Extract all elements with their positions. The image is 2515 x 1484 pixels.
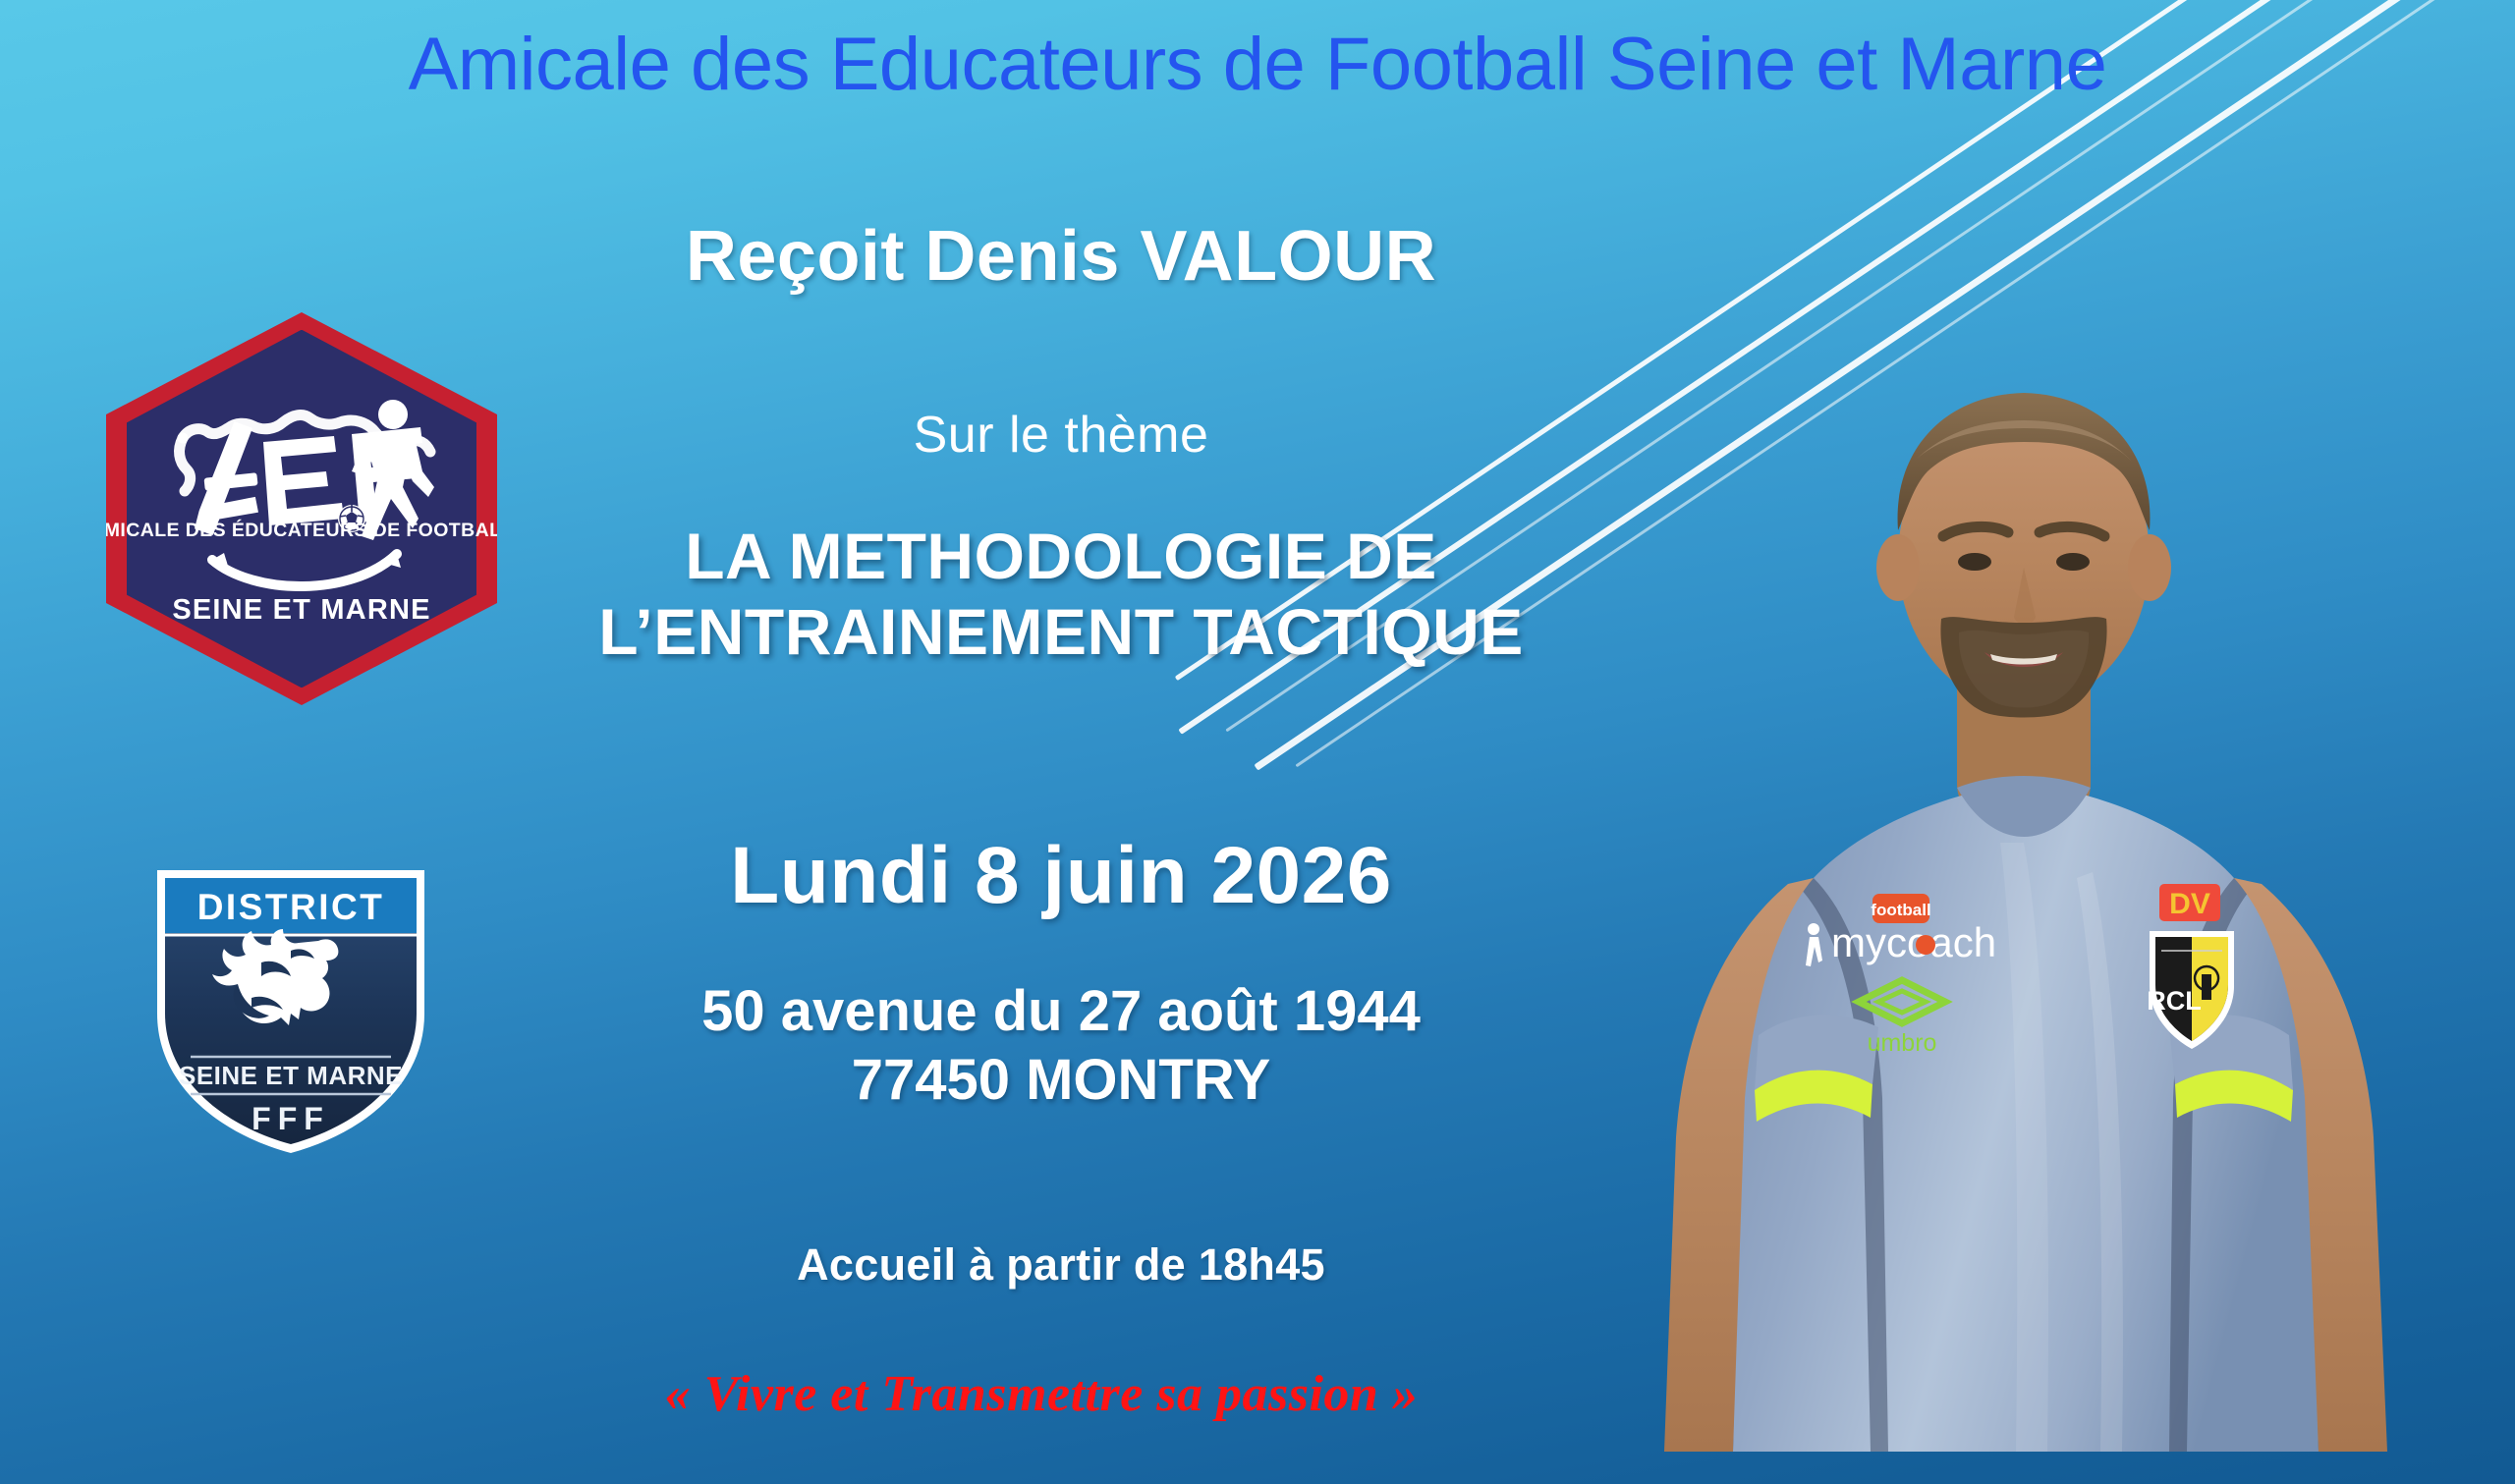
- event-poster: AMICALE DES ÉDUCATEURS DE FOOTBALL SEINE…: [0, 0, 2515, 1484]
- theme-title-line1: LA METHODOLOGIE DE: [685, 520, 1437, 592]
- theme-title: LA METHODOLOGIE DE L’ENTRAINEMENT TACTIQ…: [373, 519, 1749, 669]
- address-line2: 77450 MONTRY: [373, 1046, 1749, 1115]
- theme-title-line2: L’ENTRAINEMENT TACTIQUE: [373, 594, 1749, 670]
- shirt-brand-name: umbro: [1868, 1029, 1937, 1057]
- speaker-photo: football mycoach umbro: [1631, 322, 2515, 1452]
- shirt-sponsor-name: mycoach: [1831, 919, 1996, 965]
- poster-text-column: Amicale des Educateurs de Football Seine…: [0, 0, 1729, 1484]
- club-initials-text: DV: [2169, 888, 2210, 920]
- slogan: « Vivre et Transmettre sa passion »: [393, 1365, 1690, 1423]
- guest-speaker-line: Reçoit Denis VALOUR: [413, 216, 1709, 297]
- shirt-sponsor-tag: football: [1871, 901, 1930, 919]
- organisation-title: Amicale des Educateurs de Football Seine…: [0, 22, 2515, 107]
- club-initials-patch: DV: [2159, 884, 2220, 921]
- club-crest-initials: RCL: [2147, 986, 2202, 1016]
- speaker-portrait-artwork: football mycoach umbro: [1631, 322, 2515, 1452]
- welcome-time: Accueil à partir de 18h45: [413, 1239, 1709, 1291]
- event-address: 50 avenue du 27 août 1944 77450 MONTRY: [373, 977, 1749, 1114]
- theme-intro-label: Sur le thème: [413, 406, 1709, 465]
- event-date: Lundi 8 juin 2026: [413, 830, 1709, 922]
- address-line1: 50 avenue du 27 août 1944: [701, 979, 1421, 1043]
